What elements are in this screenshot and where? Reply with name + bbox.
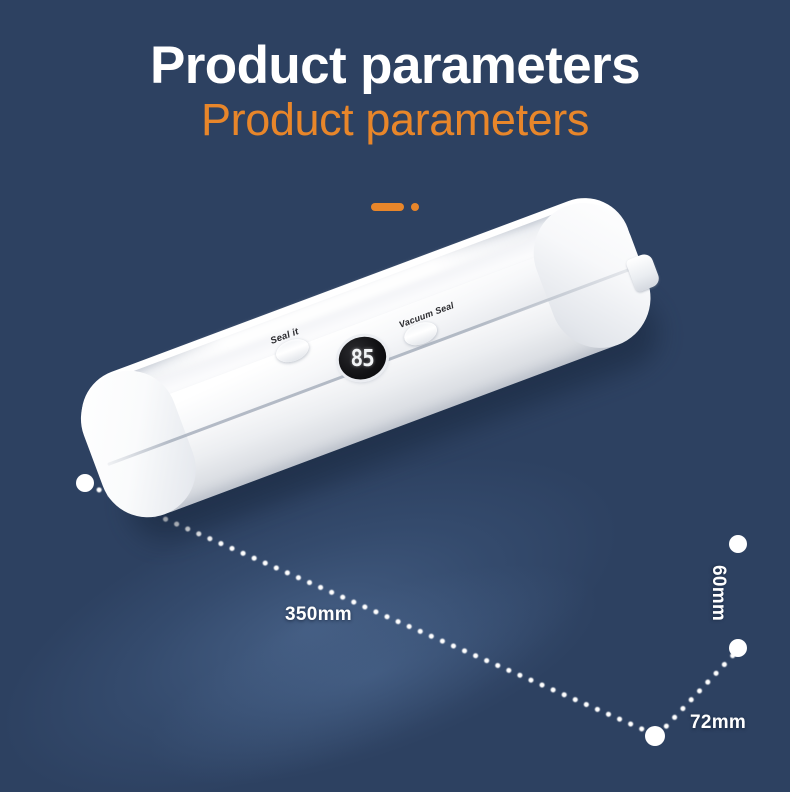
dimension-label-depth: 72mm	[690, 712, 746, 734]
product-parameters-banner: Product parameters Product parameters	[0, 0, 790, 792]
led-display-value: 85	[351, 345, 374, 372]
dimension-label-length: 350mm	[285, 604, 352, 626]
dimension-label-height: 60mm	[707, 565, 729, 621]
